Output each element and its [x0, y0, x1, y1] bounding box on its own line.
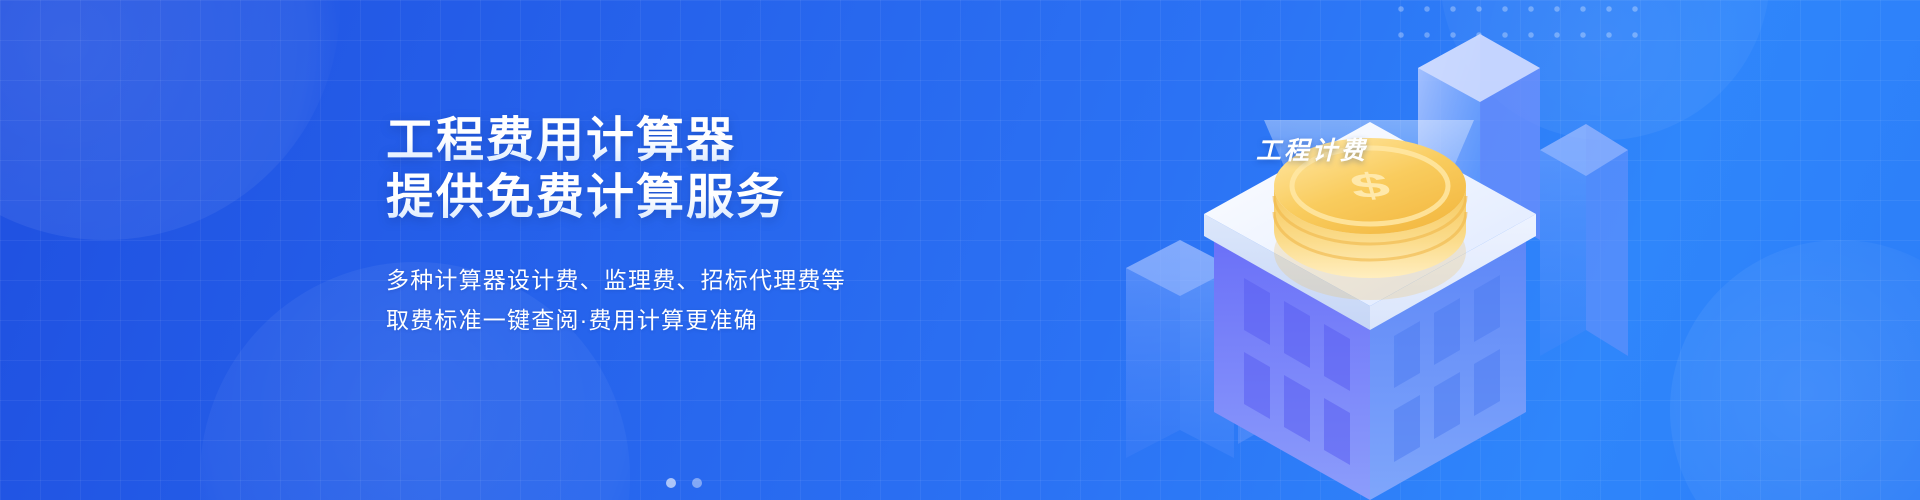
isometric-building-coin-illustration: $ — [1088, 0, 1648, 500]
hero-banner: 工程费用计算器 提供免费计算服务 多种计算器设计费、监理费、招标代理费等 取费标… — [0, 0, 1920, 500]
carousel-dot-1[interactable] — [666, 478, 676, 488]
subtitle-line-2: 取费标准一键查阅·费用计算更准确 — [386, 300, 946, 340]
page-title-line-2: 提供免费计算服务 — [386, 169, 946, 226]
illustration-label: 工程计费 — [1256, 131, 1368, 167]
page-title-line-1: 工程费用计算器 — [386, 112, 946, 169]
banner-illustration: $ 工程计费 — [1088, 0, 1648, 500]
banner-subtitle: 多种计算器设计费、监理费、招标代理费等 取费标准一键查阅·费用计算更准确 — [386, 260, 946, 340]
carousel-indicator[interactable] — [666, 478, 702, 488]
decorative-circle-top-left — [0, 0, 340, 240]
banner-copy-block: 工程费用计算器 提供免费计算服务 多种计算器设计费、监理费、招标代理费等 取费标… — [386, 112, 946, 340]
decorative-circle-right — [1670, 240, 1920, 500]
carousel-dot-2[interactable] — [692, 478, 702, 488]
subtitle-line-1: 多种计算器设计费、监理费、招标代理费等 — [386, 260, 946, 300]
